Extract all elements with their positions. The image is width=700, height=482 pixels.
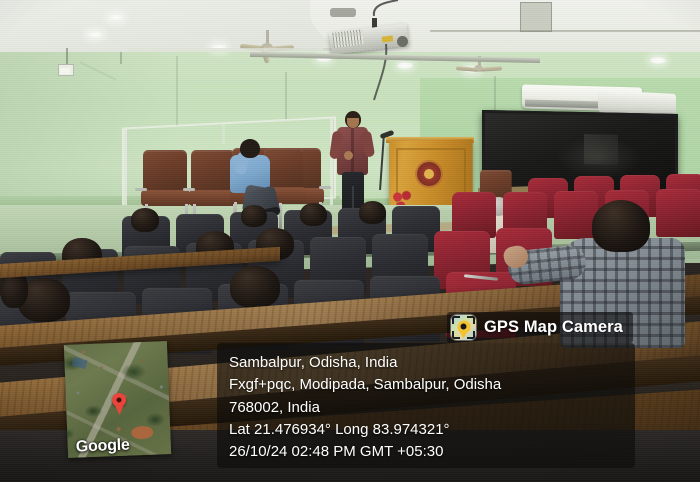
geotag-line-timestamp: 26/10/24 02:48 PM GMT +05:30 [229,441,635,463]
attendee-checked-shirt-head [592,200,650,252]
geotag-line-postal: 768002, India [229,397,635,419]
attendee-head [300,203,327,226]
audience-chair [656,189,700,237]
geotag-line-city: Sambalpur, Odisha, India [229,352,635,374]
map-attribution-label: Google [75,437,130,457]
gps-location-pin-icon [451,315,476,340]
geotag-line-address: Fxgf+pqc, Modipada, Sambalpur, Odisha [229,374,635,396]
geotag-info-panel: Sambalpur, Odisha, India Fxgf+pqc, Modip… [217,343,635,468]
map-pin-icon [112,392,127,407]
watermark-brand-label: GPS Map Camera [484,318,623,337]
attendee-head [359,201,386,224]
geotagged-photo: GPS Map Camera Sambalpur, Odisha, India … [0,0,700,482]
map-sports-field [131,425,153,439]
map-thumbnail[interactable]: Google [64,341,171,458]
attendee-head [131,208,159,232]
geotag-line-coordinates: Lat 21.476934° Long 83.974321° [229,419,635,441]
attendee-head [230,266,280,308]
attendee-head [241,205,267,227]
gps-map-camera-watermark: GPS Map Camera [447,312,633,343]
